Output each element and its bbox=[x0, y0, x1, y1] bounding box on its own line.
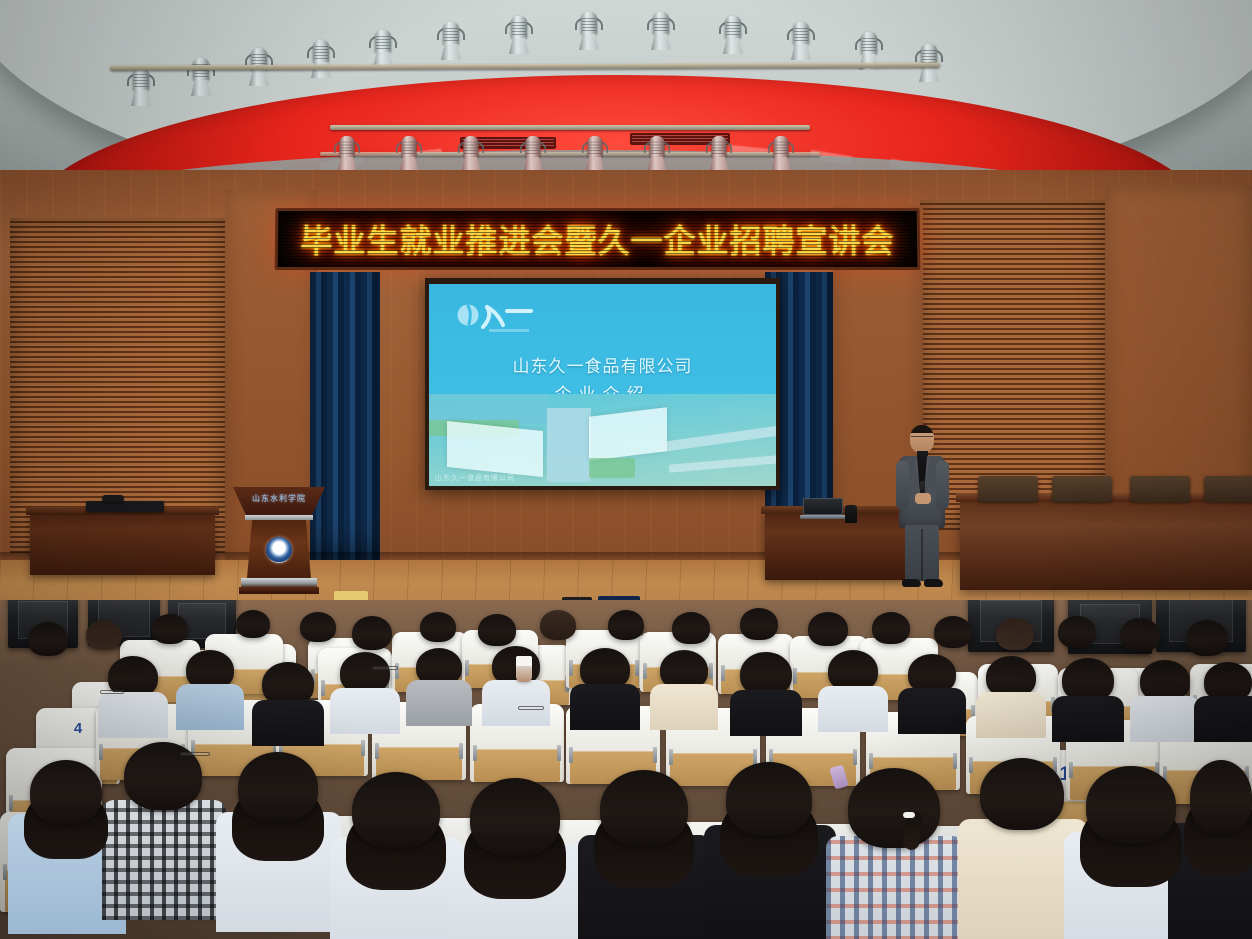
projection-screen: 山东久一食品有限公司 企业介绍 山东久一食品有限公司 bbox=[425, 278, 780, 490]
slide-photo-caption: 山东久一食品有限公司 bbox=[435, 473, 515, 483]
auditorium-scene: 毕业生就业推进会暨久一企业招聘宣讲会 山东久一食品有限公司 企业介绍 bbox=[0, 0, 1252, 939]
seat-cover-clip bbox=[9, 795, 13, 811]
podium-foot bbox=[239, 587, 319, 594]
slide-campus-photo: 山东久一食品有限公司 bbox=[429, 394, 776, 486]
microphone-base bbox=[845, 505, 857, 523]
university-crest-icon bbox=[266, 537, 292, 563]
audience-head bbox=[740, 608, 778, 640]
audience-head bbox=[996, 618, 1034, 650]
presentation-slide: 山东久一食品有限公司 企业介绍 山东久一食品有限公司 bbox=[429, 284, 776, 486]
glasses-icon bbox=[372, 666, 398, 670]
presenter-shoe-left bbox=[902, 579, 921, 587]
seat-cover-clip bbox=[465, 660, 469, 676]
equipment-case bbox=[86, 501, 164, 512]
conference-chair bbox=[1204, 476, 1252, 502]
seat-cover-clip bbox=[1069, 762, 1073, 778]
stage-spotlight-icon bbox=[523, 136, 544, 172]
stage-spotlight-icon bbox=[461, 136, 482, 172]
spotlight-body bbox=[649, 136, 664, 157]
audience-torso bbox=[650, 684, 718, 730]
glasses-icon bbox=[180, 752, 210, 756]
presenter-trousers bbox=[905, 525, 939, 581]
audience-head bbox=[352, 616, 392, 650]
audience-seating: 6426422311131711 bbox=[0, 600, 1252, 939]
spotlight-body bbox=[773, 136, 788, 157]
conference-chair bbox=[1052, 476, 1112, 502]
seat-cover-clip bbox=[969, 757, 973, 773]
audience-head bbox=[300, 612, 336, 642]
seat-cover-clip bbox=[721, 665, 725, 681]
seat-cover-clip bbox=[459, 743, 463, 759]
glasses-icon bbox=[100, 690, 124, 694]
stage-spotlight-icon bbox=[337, 136, 358, 172]
speaker-podium: 山东水利学院 bbox=[233, 487, 325, 595]
audience-hair-tie bbox=[903, 812, 915, 818]
stage-spotlight-icon bbox=[585, 136, 606, 172]
audience-head bbox=[872, 612, 910, 644]
stage-spotlight-icon bbox=[399, 136, 420, 172]
audience-torso bbox=[570, 684, 640, 730]
audience-torso bbox=[482, 680, 550, 726]
seat-cover-clip bbox=[569, 747, 573, 763]
presenter-figure bbox=[893, 425, 951, 590]
seat-cover-clip bbox=[3, 864, 7, 880]
seat-cover-clip bbox=[569, 660, 573, 676]
stage-spotlight-icon bbox=[647, 136, 668, 172]
audience-head bbox=[86, 620, 122, 650]
seat-cover-clip bbox=[793, 668, 797, 684]
audience-head bbox=[1086, 766, 1176, 844]
photo-road bbox=[659, 426, 776, 453]
audience-head bbox=[1190, 760, 1252, 834]
audience-head bbox=[1186, 620, 1228, 656]
seat-cover-clip bbox=[473, 745, 477, 761]
photo-field bbox=[589, 458, 635, 478]
photo-tower bbox=[547, 408, 591, 482]
seat-cover-clip bbox=[653, 747, 657, 763]
seat-cover-clip bbox=[635, 660, 639, 676]
audience-head bbox=[848, 768, 940, 848]
audience-torso bbox=[98, 692, 168, 738]
company-logo-icon bbox=[457, 302, 547, 336]
conference-desk-right bbox=[960, 500, 1252, 590]
presenter-laptop bbox=[800, 498, 846, 520]
audience-head bbox=[1058, 616, 1096, 648]
audience-head bbox=[608, 610, 644, 640]
audience-head bbox=[238, 752, 318, 822]
audience-head bbox=[726, 762, 812, 836]
seat-cover-clip bbox=[99, 744, 103, 760]
presenter-shoe-right bbox=[924, 579, 943, 587]
audience-torso bbox=[898, 688, 966, 734]
glasses-icon bbox=[518, 706, 544, 710]
seat-cover-clip bbox=[853, 749, 857, 765]
audience-head bbox=[672, 612, 710, 644]
audience-head bbox=[478, 614, 516, 646]
glasses-icon bbox=[911, 436, 933, 440]
audience-torso bbox=[102, 800, 226, 920]
stage-spotlight-icon bbox=[771, 136, 792, 172]
presenter-hands bbox=[915, 493, 931, 504]
podium-trim bbox=[245, 515, 313, 520]
audience-torso bbox=[826, 836, 964, 939]
audience-head bbox=[934, 616, 972, 648]
seat-cover-clip bbox=[709, 663, 713, 679]
seat-cover-clip bbox=[361, 740, 365, 756]
laptop-base bbox=[800, 515, 846, 519]
audience-torso bbox=[1130, 696, 1200, 742]
audience-head bbox=[28, 622, 68, 656]
podium-institution-text: 山东水利学院 bbox=[233, 493, 325, 504]
spotlight-body bbox=[339, 136, 354, 157]
laptop-screen bbox=[803, 498, 843, 515]
spotlight-body bbox=[587, 136, 602, 157]
audience-torso bbox=[1194, 696, 1252, 742]
audience-head bbox=[980, 758, 1064, 830]
audience-head bbox=[600, 770, 688, 846]
audience-head bbox=[470, 778, 560, 856]
slide-company-name: 山东久一食品有限公司 bbox=[429, 352, 776, 377]
spotlight-body bbox=[463, 136, 478, 157]
equipment-handle bbox=[102, 495, 124, 502]
stage-table-left bbox=[30, 513, 215, 575]
audience-torso bbox=[330, 688, 400, 734]
led-banner: 毕业生就业推进会暨久一企业招聘宣讲会 bbox=[275, 208, 921, 270]
seat-cover-clip bbox=[643, 663, 647, 679]
audience-torso bbox=[1052, 696, 1124, 742]
audience-torso bbox=[252, 700, 324, 746]
seat-cover-clip bbox=[669, 749, 673, 765]
stage-spotlight-icon bbox=[709, 136, 730, 172]
conference-chair bbox=[1130, 476, 1190, 502]
seat-cover-clip bbox=[321, 680, 325, 696]
audience-torso bbox=[818, 686, 888, 732]
seat-cover-clip bbox=[557, 745, 561, 761]
spotlight-body bbox=[401, 136, 416, 157]
audience-head bbox=[352, 772, 440, 848]
spotlight-body bbox=[711, 136, 726, 157]
seat-cover-clip bbox=[869, 753, 873, 769]
audience-torso bbox=[176, 684, 244, 730]
audience-head bbox=[808, 612, 848, 646]
audience-head bbox=[540, 610, 576, 640]
seat-cover-clip bbox=[953, 753, 957, 769]
audience-head bbox=[1120, 618, 1160, 652]
truss-bar bbox=[330, 125, 810, 130]
drink-cup-icon bbox=[516, 656, 532, 682]
audience-torso bbox=[406, 680, 472, 726]
audience-head bbox=[152, 614, 188, 644]
photo-building-right bbox=[589, 407, 667, 461]
seat-cover-clip bbox=[753, 749, 757, 765]
seat-cover-clip bbox=[375, 743, 379, 759]
audience-head bbox=[236, 610, 270, 638]
presenter-arm-left bbox=[896, 461, 909, 509]
led-banner-text: 毕业生就业推进会暨久一企业招聘宣讲会 bbox=[300, 216, 895, 262]
stage-table-right bbox=[765, 512, 905, 580]
photo-building-left bbox=[447, 421, 543, 477]
audience-torso bbox=[730, 690, 802, 736]
presenter-arm-right bbox=[936, 461, 949, 509]
spotlight-body bbox=[525, 136, 540, 157]
conference-chair bbox=[978, 476, 1038, 502]
audience-torso bbox=[976, 692, 1046, 738]
audience-head bbox=[420, 612, 456, 642]
audience-head bbox=[30, 760, 102, 824]
photo-road bbox=[669, 455, 776, 473]
